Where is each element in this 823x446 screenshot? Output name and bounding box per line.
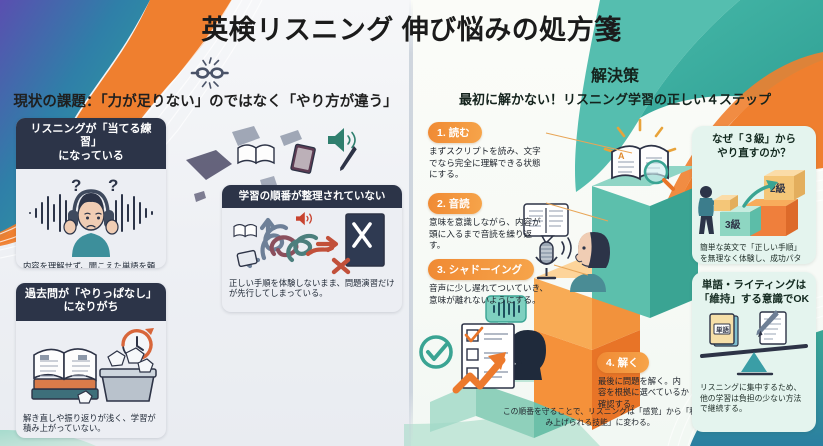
- step-1-label: 1. 読む: [428, 122, 482, 143]
- box-label-lower: 3級: [725, 218, 741, 231]
- problem-card-order: 学習の順番が整理されていない: [222, 185, 402, 312]
- step-4-body: 最後に問題を解く。内容を根拠に選べているか確認する。: [597, 376, 689, 410]
- info-card-keep-balance-caption: リスニングに集中するため、他の学習は負担の少ない方法で継続する。: [692, 380, 816, 422]
- tangled-arrows-closed-door-icon: [222, 208, 402, 274]
- info-card-why-grade3: なぜ「３級」から やり直すのか？ 2級 3級: [692, 126, 816, 264]
- step-2: 2. 音読 意味を意識しながら、内容が頭に入るまで音読を繰り返す。: [428, 193, 548, 252]
- problem-card-kakomon-header: 過去問が「やりっぱなし」 になりがち: [16, 283, 166, 321]
- step-3-label: 3. シャドーイング: [428, 259, 534, 280]
- right-subheading: 最初に解かない！リスニング学習の正しい４ステップ: [415, 89, 815, 108]
- step-2-label: 2. 音読: [428, 193, 482, 214]
- problem-card-kakomon: 過去問が「やりっぱなし」 になりがち: [16, 283, 166, 438]
- step-3-body: 音声に少し遅れてついていき、意味が離れないようにする。: [428, 283, 556, 306]
- step-4: 4. 解く 最後に問題を解く。内容を根拠に選べているか確認する。: [597, 352, 689, 410]
- step-4-label: 4. 解く: [597, 352, 649, 373]
- problem-card-kakomon-header-line2: になりがち: [64, 301, 119, 313]
- info-card-why-grade3-caption: 簡単な英文で「正しい手順」を無理なく体験し、成功パターーンを身につけるため。: [692, 240, 816, 264]
- info-card-why-grade3-title: なぜ「３級」から やり直すのか？: [692, 126, 816, 162]
- person-stacking-boxes-steps-icon: 2級 3級: [692, 162, 816, 240]
- right-heading: 解決策: [415, 62, 815, 86]
- info-card-keep-balance-title-line1: 単語・ライティングは: [702, 279, 806, 291]
- step-1: 1. 読む まずスクリプトを読み、文字でなら完全に理解できる状態にする。: [428, 122, 548, 181]
- page-title: 英検リスニング 伸び悩みの処方箋: [0, 8, 823, 47]
- problem-card-listening: リスニングが「当てる練習」 になっている ? ?: [16, 118, 166, 268]
- balance-scale-vocab-writing-icon: 単語: [692, 308, 816, 380]
- svg-text:?: ?: [108, 176, 118, 195]
- problem-card-listening-header-line2: になっている: [58, 150, 123, 162]
- step-2-body: 意味を意識しながら、内容が頭に入るまで音読を繰り返す。: [428, 217, 548, 252]
- problem-card-listening-header: リスニングが「当てる練習」 になっている: [16, 118, 166, 169]
- problem-card-listening-header-line1: リスニングが「当てる練習」: [31, 123, 152, 148]
- stacked-books-trash-clock-icon: [16, 321, 166, 409]
- svg-text:?: ?: [71, 176, 81, 195]
- info-card-keep-balance: 単語・ライティングは 「維持」する意識でOK 単語: [692, 272, 816, 432]
- confused-listener-headphones-icon: ? ?: [16, 169, 166, 257]
- steps-caption: この順番を守ることで、リスニングは「感覚」から「積み上げられる技能」に変わる。: [500, 406, 700, 429]
- broken-chain-icon: [186, 55, 232, 91]
- step-1-body: まずスクリプトを読み、文字でなら完全に理解できる状態にする。: [428, 146, 548, 181]
- panel-divider: [409, 0, 413, 446]
- problem-card-listening-caption: 内容を理解せず、聞こえた単語を頼りに選択肢を選んでしまっている状態。: [16, 257, 166, 268]
- svg-text:A: A: [618, 151, 625, 161]
- info-card-keep-balance-title: 単語・ライティングは 「維持」する意識でOK: [692, 272, 816, 308]
- problem-card-order-header: 学習の順番が整理されていない: [222, 185, 402, 208]
- info-card-keep-balance-title-line2: 「維持」する意識でOK: [699, 293, 809, 305]
- step-3: 3. シャドーイング 音声に少し遅れてついていき、意味が離れないようにする。: [428, 259, 556, 306]
- scale-left-label: 単語: [716, 325, 730, 334]
- problem-card-order-caption: 正しい手順を体験しないまま、問題演習だけが先行してしまっている。: [222, 274, 402, 305]
- problem-card-kakomon-caption: 解き直しや振り返りが浅く、学習が積み上がっていない。: [16, 409, 166, 438]
- info-card-why-grade3-title-line2: やり直すのか？: [717, 147, 791, 159]
- problem-card-kakomon-header-line1: 過去問が「やりっぱなし」: [25, 288, 157, 300]
- infographic-root: 英検リスニング 伸び悩みの処方箋 現状の課題：「力が足りない」のではなく「やり方…: [0, 0, 823, 446]
- info-card-why-grade3-title-line1: なぜ「３級」から: [712, 133, 796, 145]
